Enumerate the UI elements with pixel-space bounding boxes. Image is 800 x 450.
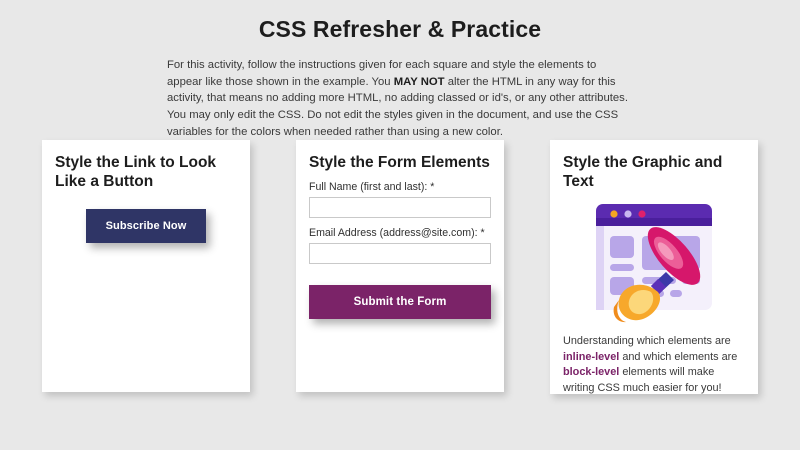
graphic-description: Understanding which elements are inline-… xyxy=(563,334,745,397)
card-form-title: Style the Form Elements xyxy=(309,154,491,173)
email-address-label: Email Address (address@site.com): * xyxy=(309,227,491,239)
page-root: CSS Refresher & Practice For this activi… xyxy=(0,0,800,450)
submit-the-form-button[interactable]: Submit the Form xyxy=(309,285,491,319)
term-inline-level: inline-level xyxy=(563,351,619,363)
email-address-input[interactable] xyxy=(309,243,491,264)
browser-window-paintbrush-icon xyxy=(588,200,720,326)
graphic-text-part1: Understanding which elements are xyxy=(563,335,731,347)
graphic-container xyxy=(563,200,745,326)
intro-paragraph: For this activity, follow the instructio… xyxy=(167,57,633,141)
full-name-label: Full Name (first and last): * xyxy=(309,181,491,193)
card-style-the-form: Style the Form Elements Full Name (first… xyxy=(296,140,504,392)
submit-button-container: Submit the Form xyxy=(309,285,491,319)
term-block-level: block-level xyxy=(563,366,619,378)
subscribe-now-button[interactable]: Subscribe Now xyxy=(86,209,207,243)
cards-row: Style the Link to Look Like a Button Sub… xyxy=(0,140,800,394)
graphic-text-part2: and which elements are xyxy=(619,351,737,363)
intro-emphasis: MAY NOT xyxy=(394,76,445,88)
full-name-input[interactable] xyxy=(309,197,491,218)
card-link-title: Style the Link to Look Like a Button xyxy=(55,154,237,192)
page-title: CSS Refresher & Practice xyxy=(0,0,800,43)
card-style-the-link: Style the Link to Look Like a Button Sub… xyxy=(42,140,250,392)
card-style-the-graphic: Style the Graphic and Text xyxy=(550,140,758,394)
card-graphic-title: Style the Graphic and Text xyxy=(563,154,745,192)
subscribe-button-container: Subscribe Now xyxy=(55,209,237,243)
